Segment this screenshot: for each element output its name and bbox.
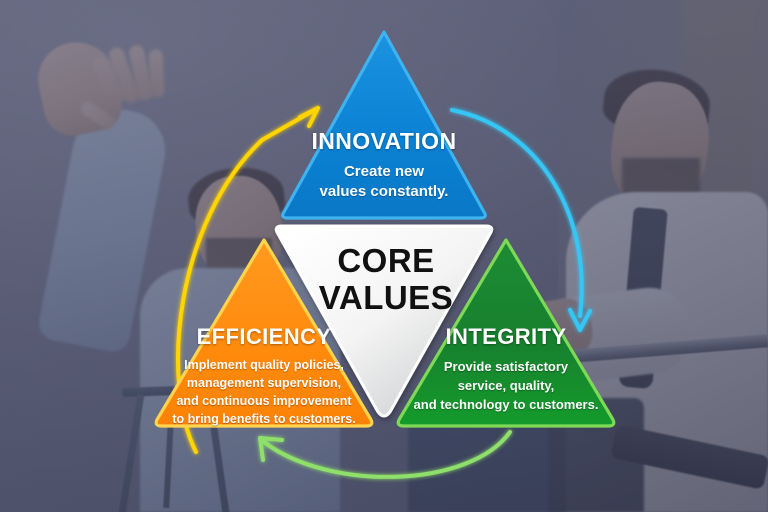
infographic-canvas: INNOVATION Create new values constantly.… [0, 0, 768, 512]
core-values-label: CORE VALUES [296, 243, 476, 317]
innovation-triangle-shape [283, 32, 486, 218]
pillar-innovation[interactable]: INNOVATION Create new values constantly. [272, 22, 496, 222]
core-values-line-1: CORE [296, 243, 476, 280]
arrow-integrity-to-efficiency [260, 432, 510, 477]
core-values-line-2: VALUES [296, 280, 476, 317]
